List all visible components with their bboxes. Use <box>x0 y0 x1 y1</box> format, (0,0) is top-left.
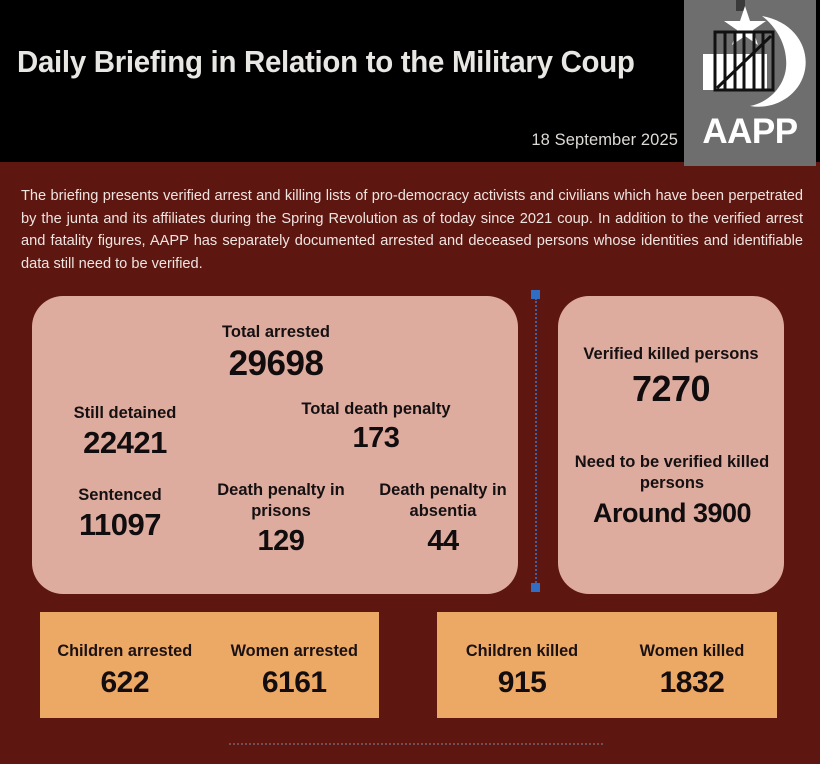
stat-death-penalty-in-prisons-value: 129 <box>190 526 372 556</box>
stat-need-to-be-verified-killed-persons-value: Around 3900 <box>570 499 774 527</box>
page-title: Daily Briefing in Relation to the Milita… <box>17 46 654 80</box>
stat-children-arrested-value: 622 <box>40 667 210 699</box>
stat-need-to-be-verified-killed-persons: Need to be verified killed persons Aroun… <box>570 452 774 527</box>
vertical-dotted-divider <box>535 298 537 586</box>
intro-paragraph: The briefing presents verified arrest an… <box>21 185 803 275</box>
stat-total-arrested-label: Total arrested <box>103 322 449 343</box>
stat-death-penalty-in-prisons-label: Death penalty in prisons <box>190 480 372 522</box>
stat-still-detained: Still detained 22421 <box>20 403 230 460</box>
stat-death-penalty-in-prisons: Death penalty in prisons 129 <box>190 480 372 556</box>
horizontal-dotted-divider <box>229 743 603 745</box>
stat-verified-killed-persons-label: Verified killed persons <box>564 344 778 365</box>
stat-death-penalty-in-absentia-value: 44 <box>356 526 530 556</box>
divider-handle-bottom[interactable] <box>531 583 540 592</box>
stat-death-penalty-in-absentia-label: Death penalty in absentia <box>356 480 530 522</box>
stat-women-killed-value: 1832 <box>607 667 777 699</box>
stat-women-arrested-value: 6161 <box>210 667 380 699</box>
stat-total-arrested: Total arrested 29698 <box>103 322 449 383</box>
stat-total-arrested-value: 29698 <box>103 346 449 383</box>
stat-children-arrested: Children arrested 622 <box>40 612 210 718</box>
stat-children-arrested-label: Children arrested <box>40 641 210 661</box>
stat-sentenced-value: 11097 <box>22 509 218 542</box>
aapp-logo: AAPP <box>684 0 816 166</box>
stat-verified-killed-persons: Verified killed persons 7270 <box>564 344 778 408</box>
stat-women-arrested-label: Women arrested <box>210 641 380 661</box>
stat-sentenced: Sentenced 11097 <box>22 485 218 542</box>
stat-death-penalty-in-absentia: Death penalty in absentia 44 <box>356 480 530 556</box>
stat-total-death-penalty-label: Total death penalty <box>258 399 494 420</box>
stat-verified-killed-persons-value: 7270 <box>564 370 778 408</box>
briefing-date: 18 September 2025 <box>0 131 678 150</box>
stat-children-killed: Children killed 915 <box>437 612 607 718</box>
stat-women-arrested: Women arrested 6161 <box>210 612 380 718</box>
stat-children-killed-label: Children killed <box>437 641 607 661</box>
aapp-crescent-star-prison-icon <box>684 4 816 116</box>
arrested-demographics-band: Children arrested 622 Women arrested 616… <box>40 612 379 718</box>
killed-statistics-card <box>558 296 784 594</box>
stat-need-to-be-verified-killed-persons-label: Need to be verified killed persons <box>570 452 774 494</box>
stat-sentenced-label: Sentenced <box>22 485 218 506</box>
divider-handle-top[interactable] <box>531 290 540 299</box>
stat-still-detained-label: Still detained <box>20 403 230 424</box>
stat-total-death-penalty-value: 173 <box>258 423 494 453</box>
stat-total-death-penalty: Total death penalty 173 <box>258 399 494 453</box>
logo-wordmark: AAPP <box>684 112 816 152</box>
infographic-root: Daily Briefing in Relation to the Milita… <box>0 0 820 764</box>
stat-still-detained-value: 22421 <box>20 427 230 460</box>
stat-children-killed-value: 915 <box>437 667 607 699</box>
stat-women-killed-label: Women killed <box>607 641 777 661</box>
stat-women-killed: Women killed 1832 <box>607 612 777 718</box>
killed-demographics-band: Children killed 915 Women killed 1832 <box>437 612 777 718</box>
